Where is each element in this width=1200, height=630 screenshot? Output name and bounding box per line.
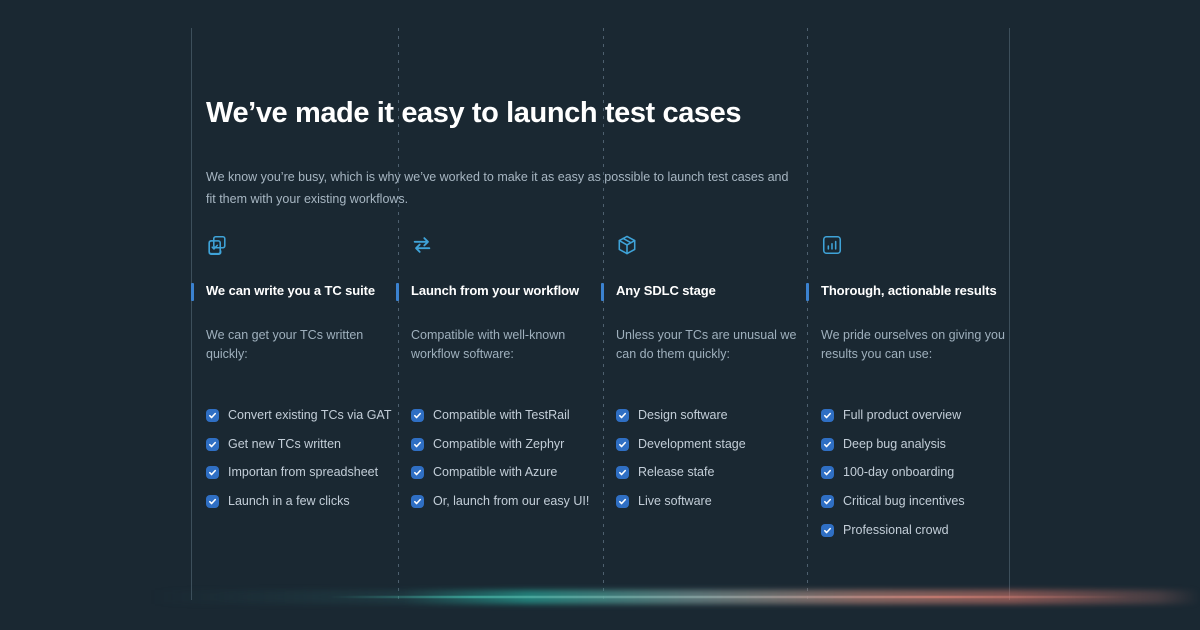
feature-column-sdlc: Any SDLC stage Unless your TCs are unusu… — [616, 234, 802, 522]
list-item-label: Critical bug incentives — [843, 493, 965, 511]
list-item: Importan from spreadsheet — [206, 464, 392, 482]
list-item: Deep bug analysis — [821, 436, 1007, 454]
feature-list: Design software Development stage Releas… — [616, 407, 802, 511]
list-item: Compatible with Zephyr — [411, 436, 597, 454]
list-item-label: Development stage — [638, 436, 746, 454]
list-item: Critical bug incentives — [821, 493, 1007, 511]
content-rail-right — [1009, 28, 1010, 600]
list-item-label: Design software — [638, 407, 728, 425]
heading-accent-bar — [396, 283, 399, 301]
list-item-label: Importan from spreadsheet — [228, 464, 378, 482]
list-item-label: Compatible with TestRail — [433, 407, 570, 425]
feature-column-tc-suite: We can write you a TC suite We can get y… — [206, 234, 392, 522]
check-icon — [616, 466, 629, 479]
feature-column-results: Thorough, actionable results We pride ou… — [821, 234, 1007, 551]
copy-documents-check-icon — [206, 234, 392, 258]
check-icon — [821, 466, 834, 479]
check-icon — [206, 438, 219, 451]
feature-columns: We can write you a TC suite We can get y… — [191, 234, 1009, 574]
list-item-label: Professional crowd — [843, 522, 949, 540]
check-icon — [206, 466, 219, 479]
column-heading: Thorough, actionable results — [821, 282, 1007, 300]
check-icon — [821, 409, 834, 422]
list-item-label: Full product overview — [843, 407, 961, 425]
list-item: 100-day onboarding — [821, 464, 1007, 482]
list-item-label: Release stafe — [638, 464, 714, 482]
list-item-label: Compatible with Azure — [433, 464, 557, 482]
list-item: Release stafe — [616, 464, 802, 482]
check-icon — [411, 409, 424, 422]
column-heading: Launch from your workflow — [411, 282, 597, 300]
check-icon — [821, 524, 834, 537]
list-item: Get new TCs written — [206, 436, 392, 454]
list-item: Compatible with Azure — [411, 464, 597, 482]
list-item: Or, launch from our easy UI! — [411, 493, 597, 511]
bar-chart-icon — [821, 234, 1007, 258]
column-description: We can get your TCs written quickly: — [206, 326, 392, 365]
heading-accent-bar — [806, 283, 809, 301]
page-subtitle: We know you’re busy, which is why we’ve … — [206, 166, 796, 211]
check-icon — [411, 466, 424, 479]
column-heading-row: Thorough, actionable results — [821, 282, 1007, 304]
column-heading-row: Launch from your workflow — [411, 282, 597, 304]
check-icon — [206, 409, 219, 422]
list-item-label: Live software — [638, 493, 712, 511]
heading-accent-bar — [191, 283, 194, 301]
heading-accent-bar — [601, 283, 604, 301]
list-item-label: Get new TCs written — [228, 436, 341, 454]
list-item-label: Convert existing TCs via GAT — [228, 407, 391, 425]
check-icon — [821, 438, 834, 451]
page-title: We’ve made it easy to launch test cases — [206, 96, 906, 131]
column-description: Unless your TCs are unusual we can do th… — [616, 326, 802, 365]
column-heading: We can write you a TC suite — [206, 282, 392, 300]
bottom-gradient-glow-core — [330, 596, 1130, 598]
list-item: Compatible with TestRail — [411, 407, 597, 425]
feature-list: Compatible with TestRail Compatible with… — [411, 407, 597, 511]
list-item: Live software — [616, 493, 802, 511]
check-icon — [411, 495, 424, 508]
check-icon — [821, 495, 834, 508]
column-heading-row: Any SDLC stage — [616, 282, 802, 304]
list-item-label: Or, launch from our easy UI! — [433, 493, 589, 511]
list-item-label: 100-day onboarding — [843, 464, 954, 482]
exchange-arrows-icon — [411, 234, 597, 258]
check-icon — [206, 495, 219, 508]
list-item: Professional crowd — [821, 522, 1007, 540]
column-heading-row: We can write you a TC suite — [206, 282, 392, 304]
cube-box-icon — [616, 234, 802, 258]
check-icon — [616, 495, 629, 508]
column-description: We pride ourselves on giving you results… — [821, 326, 1007, 365]
list-item: Convert existing TCs via GAT — [206, 407, 392, 425]
list-item: Development stage — [616, 436, 802, 454]
list-item-label: Compatible with Zephyr — [433, 436, 564, 454]
column-description: Compatible with well-known workflow soft… — [411, 326, 597, 365]
list-item: Full product overview — [821, 407, 1007, 425]
check-icon — [616, 438, 629, 451]
list-item: Launch in a few clicks — [206, 493, 392, 511]
check-icon — [616, 409, 629, 422]
page-root: We’ve made it easy to launch test cases … — [0, 0, 1200, 630]
feature-column-workflow: Launch from your workflow Compatible wit… — [411, 234, 597, 522]
list-item: Design software — [616, 407, 802, 425]
feature-list: Full product overview Deep bug analysis … — [821, 407, 1007, 540]
column-heading: Any SDLC stage — [616, 282, 802, 300]
list-item-label: Deep bug analysis — [843, 436, 946, 454]
feature-list: Convert existing TCs via GAT Get new TCs… — [206, 407, 392, 511]
list-item-label: Launch in a few clicks — [228, 493, 350, 511]
check-icon — [411, 438, 424, 451]
